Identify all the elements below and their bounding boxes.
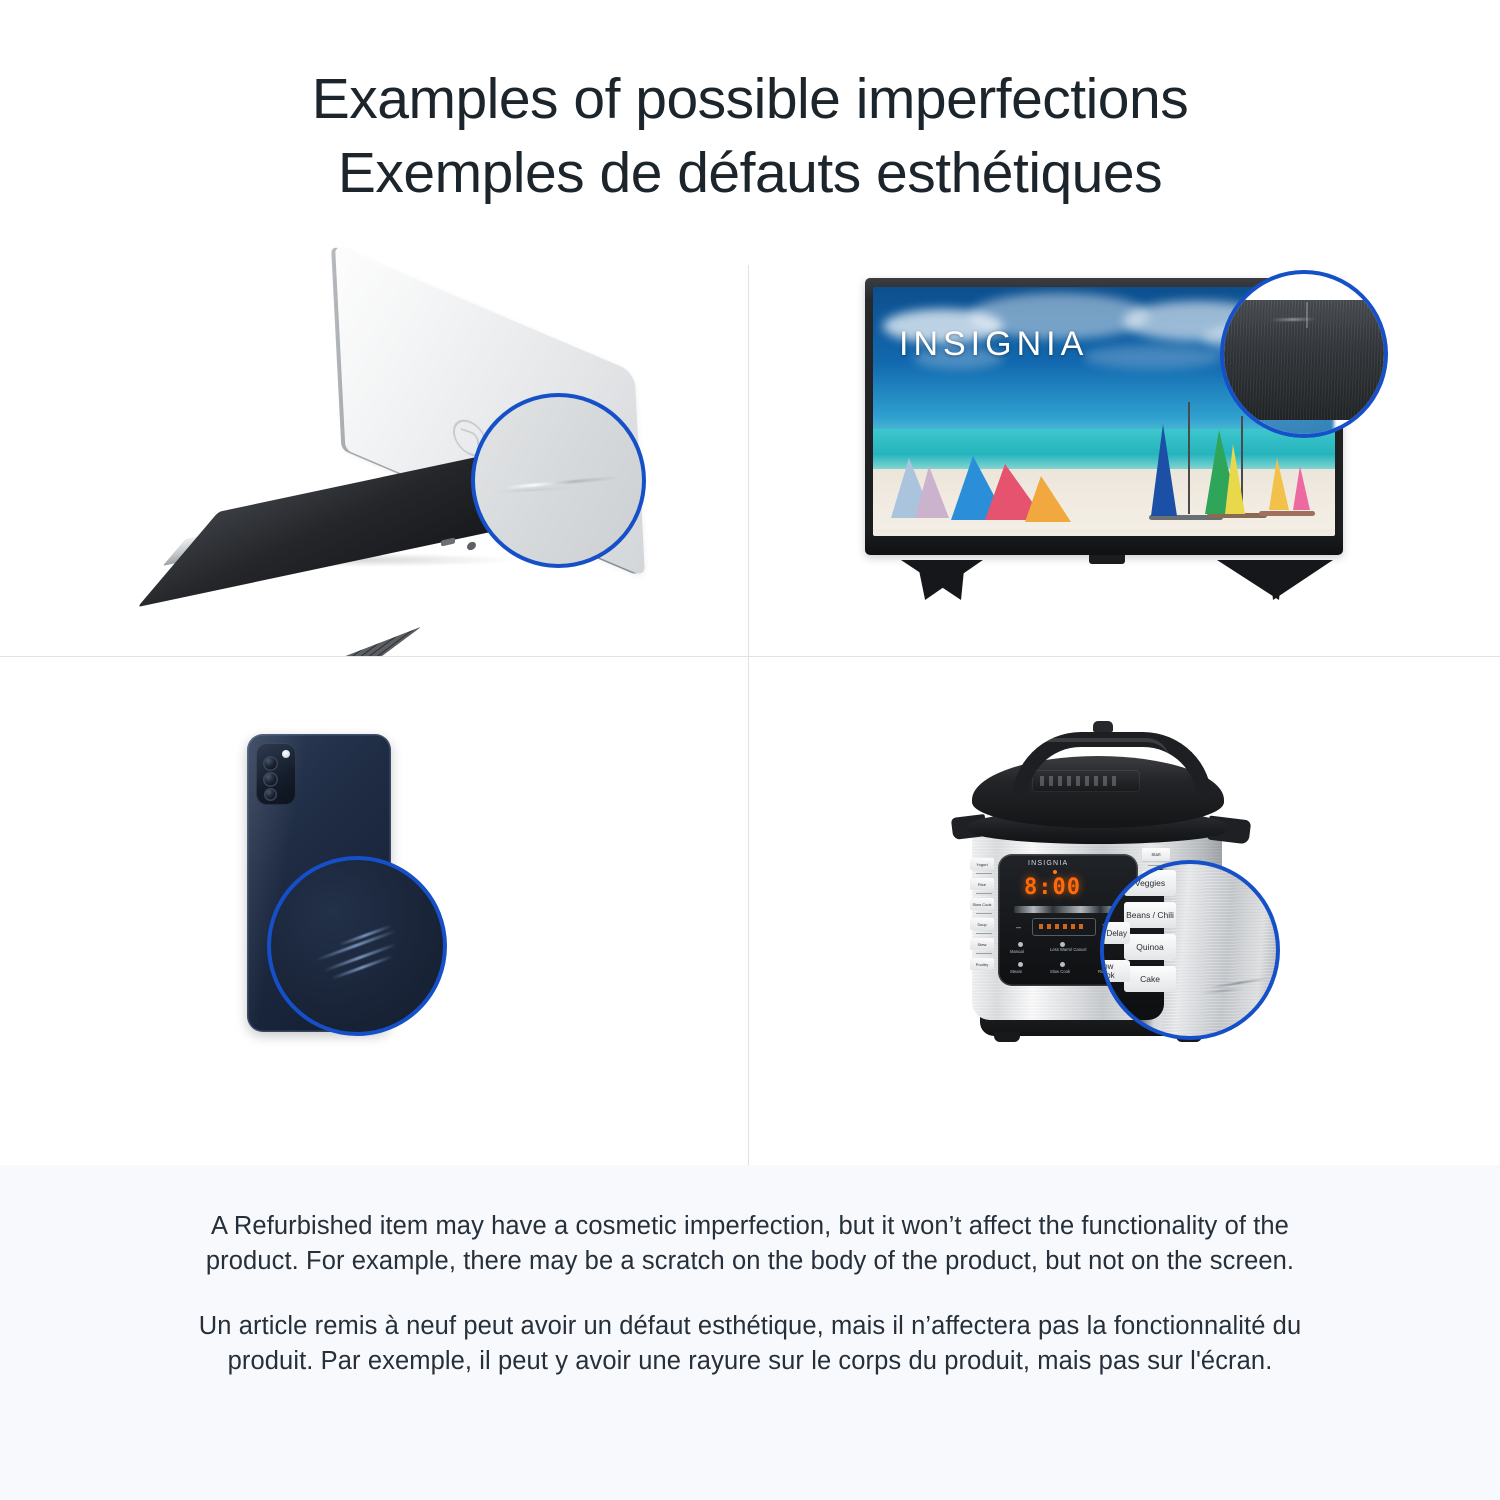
header: Examples of possible imperfections Exemp… bbox=[0, 0, 1500, 218]
cooker-handle-highlight bbox=[1024, 738, 1170, 762]
panel-laptop bbox=[0, 218, 748, 656]
insignia-screen-logo: INSIGNIA bbox=[899, 325, 1088, 364]
panel-television: INSIGNIA bbox=[748, 218, 1500, 656]
sailboat-sail bbox=[1225, 444, 1245, 514]
zoom-button-quinoa[interactable]: Quinoa bbox=[1124, 934, 1176, 960]
sailboat-sail bbox=[915, 466, 949, 518]
decrease-button[interactable]: – bbox=[1016, 922, 1021, 932]
laptop-illustration bbox=[160, 303, 680, 603]
keypad-label-manual: Manual bbox=[1010, 949, 1024, 954]
zoom-button-slow-cook[interactable]: Slow Cook bbox=[1100, 960, 1130, 982]
refurbished-imperfections-infographic: Examples of possible imperfections Exemp… bbox=[0, 0, 1500, 1500]
panel-smartphone bbox=[0, 656, 748, 1165]
cooker-steam-valve bbox=[1093, 721, 1113, 732]
television-illustration: INSIGNIA bbox=[865, 278, 1365, 618]
camera-flash-icon bbox=[282, 750, 290, 758]
cooker-button-stew[interactable]: Stew bbox=[970, 938, 994, 950]
cloud bbox=[1083, 345, 1223, 369]
button-separator bbox=[976, 913, 992, 914]
pressure-cooker-illustration: Yogurt Rice Slow Cook Soup Stew Poultry … bbox=[950, 718, 1280, 1088]
sea bbox=[873, 429, 1335, 471]
cooker-button-slow-cook[interactable]: Slow Cook bbox=[970, 898, 994, 910]
laptop-usb-port bbox=[441, 538, 455, 547]
sailboat-sail bbox=[1293, 466, 1310, 510]
insignia-cooker-logo: INSIGNIA bbox=[1028, 860, 1068, 867]
cooker-button-poultry[interactable]: Poultry bbox=[970, 958, 994, 970]
description-en: A Refurbished item may have a cosmetic i… bbox=[170, 1209, 1330, 1279]
tv-center-nub bbox=[1089, 555, 1125, 564]
zoom-button-cake[interactable]: Cake bbox=[1124, 966, 1176, 992]
magnifier-laptop-scratch bbox=[471, 393, 646, 568]
magnifier-phone-scratches bbox=[267, 856, 447, 1036]
panel-pressure-cooker: Yogurt Rice Slow Cook Soup Stew Poultry … bbox=[748, 656, 1500, 1165]
cooker-button-yogurt[interactable]: Yogurt bbox=[970, 858, 994, 870]
magnifier-tv-scuff bbox=[1220, 270, 1388, 438]
product-examples-grid: INSIGNIA bbox=[0, 218, 1500, 1165]
cooker-foot-left bbox=[994, 1032, 1020, 1042]
laptop-audio-port bbox=[467, 541, 476, 551]
keypad-label-steam: Steam bbox=[1010, 969, 1022, 974]
camera-lens bbox=[264, 788, 277, 801]
camera-module bbox=[256, 743, 296, 805]
zoom-button-delay[interactable]: Delay bbox=[1100, 922, 1130, 944]
keypad-key[interactable] bbox=[1018, 942, 1023, 947]
cooker-sub-display bbox=[1032, 918, 1096, 936]
camera-lens bbox=[263, 772, 278, 787]
sailboat-sail bbox=[1025, 476, 1071, 522]
zoom-button-veggies[interactable]: Veggies bbox=[1124, 870, 1176, 896]
cooker-button-start[interactable]: Start bbox=[1142, 848, 1170, 861]
phone-scratch-mark bbox=[331, 955, 394, 980]
tv-bezel-seam bbox=[1306, 302, 1308, 328]
zoom-button-beans-chili[interactable]: Beans / Chili bbox=[1124, 902, 1176, 928]
button-separator bbox=[976, 873, 992, 874]
boat-mast bbox=[1188, 402, 1190, 514]
tv-foot-right bbox=[1269, 560, 1333, 600]
button-separator bbox=[976, 893, 992, 894]
keypad-label-slow-cook: Slow Cook bbox=[1050, 969, 1070, 974]
cooker-brushed-texture bbox=[1162, 864, 1280, 1036]
cooker-left-button-column: Yogurt Rice Slow Cook Soup Stew Poultry bbox=[970, 858, 996, 982]
boat-hull bbox=[1259, 511, 1315, 516]
cooker-button-soup[interactable]: Soup bbox=[970, 918, 994, 930]
sailboat-sail bbox=[1269, 458, 1289, 510]
sailboat-sail bbox=[1151, 424, 1177, 516]
laptop-keyboard bbox=[22, 626, 422, 656]
magnifier-cooker-scratch: Veggies Beans / Chili Quinoa Cake Delay … bbox=[1100, 860, 1280, 1040]
keypad-label-warm: Less Warm/ Cancel bbox=[1050, 947, 1086, 952]
button-separator bbox=[976, 953, 992, 954]
button-separator bbox=[976, 933, 992, 934]
page-title-en: Examples of possible imperfections bbox=[0, 62, 1500, 136]
footer-description: A Refurbished item may have a cosmetic i… bbox=[0, 1165, 1500, 1500]
smartphone-illustration bbox=[233, 726, 483, 1076]
status-indicator-led bbox=[1053, 870, 1057, 874]
tv-foot-left-inner bbox=[901, 560, 965, 600]
keypad-key[interactable] bbox=[1060, 962, 1065, 967]
page-title-fr: Exemples de défauts esthétiques bbox=[0, 136, 1500, 210]
description-fr: Un article remis à neuf peut avoir un dé… bbox=[170, 1309, 1330, 1379]
cooker-button-rice[interactable]: Rice bbox=[970, 878, 994, 890]
keypad-key[interactable] bbox=[1018, 962, 1023, 967]
camera-lens bbox=[263, 756, 278, 771]
cooker-led-display: 8:00 bbox=[1024, 876, 1088, 900]
